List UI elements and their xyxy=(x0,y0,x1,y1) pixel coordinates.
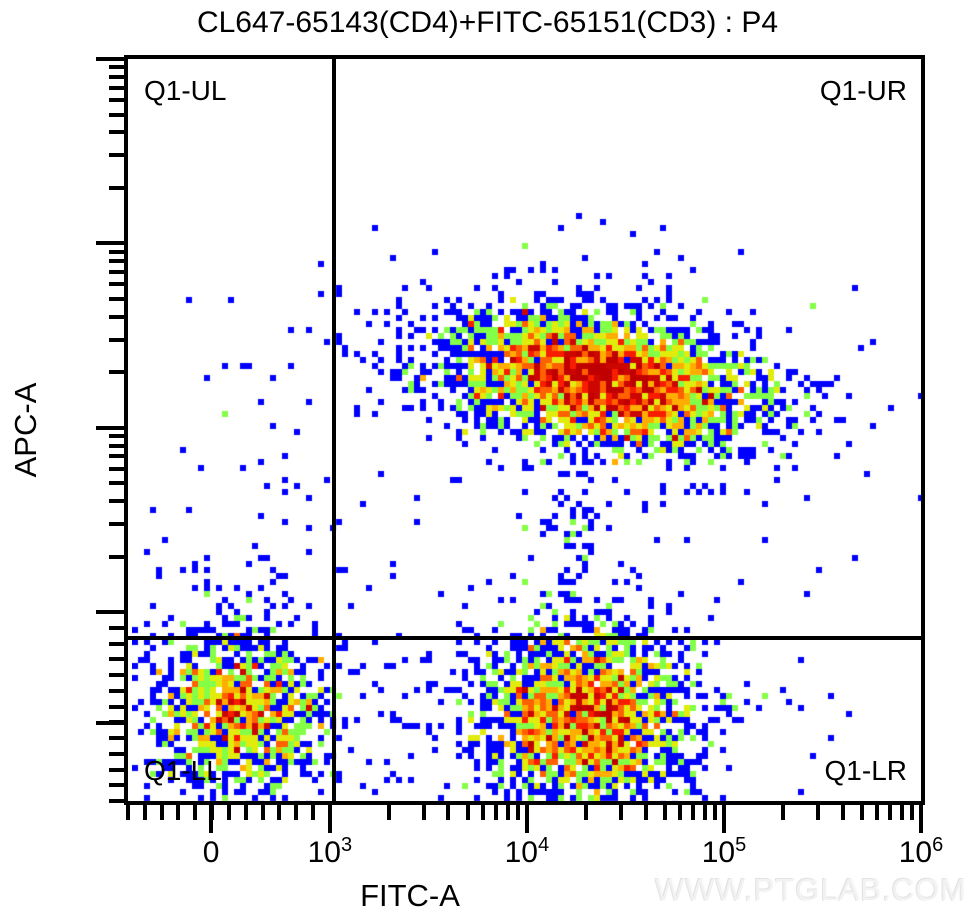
x-axis-minor-tick xyxy=(277,805,281,820)
y-axis-minor-tick xyxy=(109,499,124,503)
y-axis-minor-tick xyxy=(109,626,124,630)
x-axis-ticks xyxy=(124,805,925,833)
x-axis-minor-tick xyxy=(663,805,667,820)
y-axis-minor-tick xyxy=(109,673,124,677)
x-axis-tick-label: 105 xyxy=(702,836,747,870)
y-axis-minor-tick xyxy=(109,338,124,342)
x-axis-minor-tick xyxy=(311,805,315,820)
x-axis-minor-tick xyxy=(160,805,164,820)
y-axis-major-tick xyxy=(96,610,124,614)
x-axis-tick-label: 0 xyxy=(203,836,220,870)
x-axis-minor-tick xyxy=(713,805,717,820)
quadrant-label-upper-left[interactable]: Q1-UL xyxy=(144,77,226,105)
x-axis-minor-tick xyxy=(506,805,510,820)
y-axis-minor-tick xyxy=(109,153,124,157)
x-axis-minor-tick xyxy=(841,805,845,820)
x-axis-minor-tick xyxy=(227,805,231,820)
y-axis-minor-tick xyxy=(109,522,124,526)
x-axis-minor-tick xyxy=(619,805,623,820)
y-axis-minor-tick xyxy=(109,270,124,274)
y-axis-minor-tick xyxy=(109,86,124,90)
x-axis-minor-tick xyxy=(126,805,130,820)
x-axis-minor-tick xyxy=(387,805,391,820)
x-axis-minor-tick xyxy=(910,805,914,820)
y-axis-minor-tick xyxy=(109,783,124,787)
quadrant-divider-horizontal[interactable] xyxy=(128,636,921,640)
x-axis-title: FITC-A xyxy=(0,878,820,914)
x-axis-minor-tick xyxy=(244,805,248,820)
y-axis-minor-tick xyxy=(109,705,124,709)
y-axis-major-tick xyxy=(96,721,124,725)
x-axis-minor-tick xyxy=(644,805,648,820)
y-axis-major-tick xyxy=(96,426,124,430)
x-axis-minor-tick xyxy=(481,805,485,820)
x-axis-minor-tick xyxy=(816,805,820,820)
y-axis-minor-tick xyxy=(109,75,124,79)
flow-cytometry-plot: CL647-65143(CD4)+FITC-65151(CD3) : P4 AP… xyxy=(0,0,975,921)
y-axis-minor-tick xyxy=(109,282,124,286)
x-axis-tick-label: 104 xyxy=(505,836,550,870)
x-axis-minor-tick xyxy=(703,805,707,820)
x-axis-minor-tick xyxy=(900,805,904,820)
y-axis-major-tick xyxy=(96,57,124,61)
x-axis-minor-tick xyxy=(875,805,879,820)
x-axis-minor-tick xyxy=(143,805,147,820)
x-axis-major-tick xyxy=(722,805,726,833)
x-axis-minor-tick xyxy=(176,805,180,820)
x-axis-minor-tick xyxy=(860,805,864,820)
y-axis-minor-tick xyxy=(109,799,124,803)
x-axis-minor-tick xyxy=(193,805,197,820)
y-axis-minor-tick xyxy=(109,481,124,485)
y-axis-minor-tick xyxy=(109,98,124,102)
y-axis-minor-tick xyxy=(109,768,124,772)
y-axis-minor-tick xyxy=(109,454,124,458)
scatter-density-canvas xyxy=(132,63,925,805)
y-axis-ticks xyxy=(96,55,124,805)
x-axis-minor-tick xyxy=(781,805,785,820)
y-axis-minor-tick xyxy=(109,130,124,134)
x-axis-tick-label: 103 xyxy=(308,836,353,870)
y-axis-minor-tick xyxy=(109,555,124,559)
y-axis-minor-tick xyxy=(109,370,124,374)
quadrant-label-lower-right[interactable]: Q1-LR xyxy=(825,757,907,785)
x-axis-minor-tick xyxy=(888,805,892,820)
y-axis-minor-tick xyxy=(109,752,124,756)
y-axis-minor-tick xyxy=(109,689,124,693)
x-axis-minor-tick xyxy=(466,805,470,820)
y-axis-minor-tick xyxy=(109,250,124,254)
x-axis-major-tick xyxy=(209,805,213,833)
y-axis-minor-tick xyxy=(109,657,124,661)
x-axis-minor-tick xyxy=(294,805,298,820)
x-axis-major-tick xyxy=(328,805,332,833)
x-axis-minor-tick xyxy=(446,805,450,820)
plot-area[interactable]: Q1-UL Q1-UR Q1-LL Q1-LR xyxy=(124,55,925,805)
y-axis-minor-tick xyxy=(109,467,124,471)
x-axis-major-tick xyxy=(919,805,923,833)
y-axis-minor-tick xyxy=(109,259,124,263)
x-axis-minor-tick xyxy=(261,805,265,820)
y-axis-minor-tick xyxy=(109,736,124,740)
x-axis-tick-label: 106 xyxy=(899,836,944,870)
x-axis-major-tick xyxy=(525,805,529,833)
quadrant-divider-vertical[interactable] xyxy=(332,59,336,801)
x-axis-minor-tick xyxy=(422,805,426,820)
quadrant-label-upper-right[interactable]: Q1-UR xyxy=(820,77,907,105)
y-axis-title: APC-A xyxy=(8,383,44,478)
y-axis-minor-tick xyxy=(109,65,124,69)
x-axis-minor-tick xyxy=(494,805,498,820)
y-axis-minor-tick xyxy=(109,113,124,117)
x-axis-minor-tick xyxy=(584,805,588,820)
y-axis-minor-tick xyxy=(109,444,124,448)
y-axis-minor-tick xyxy=(109,297,124,301)
quadrant-label-lower-left[interactable]: Q1-LL xyxy=(144,757,222,785)
x-axis-minor-tick xyxy=(691,805,695,820)
y-axis-minor-tick xyxy=(109,642,124,646)
y-axis-minor-tick xyxy=(109,186,124,190)
y-axis-major-tick xyxy=(96,241,124,245)
y-axis-minor-tick xyxy=(109,315,124,319)
x-axis-minor-tick xyxy=(678,805,682,820)
x-axis-minor-tick xyxy=(516,805,520,820)
page-title: CL647-65143(CD4)+FITC-65151(CD3) : P4 xyxy=(0,6,975,40)
y-axis-minor-tick xyxy=(109,434,124,438)
